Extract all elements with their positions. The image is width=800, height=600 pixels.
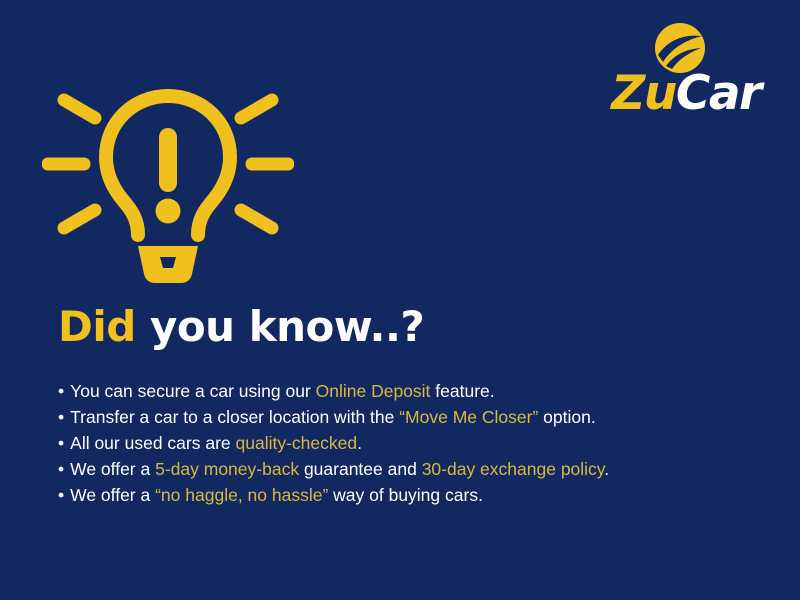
plain-text: We offer a bbox=[70, 485, 155, 505]
list-item: •All our used cars are quality-checked. bbox=[58, 430, 758, 456]
list-item-text: All our used cars are quality-checked. bbox=[70, 430, 362, 456]
lightbulb-exclamation-icon bbox=[42, 72, 294, 288]
list-item: •We offer a “no haggle, no hassle” way o… bbox=[58, 482, 758, 508]
plain-text: . bbox=[357, 433, 362, 453]
page-title: Did you know..? bbox=[58, 304, 424, 350]
promo-slide: ZuCar Did you know..? •You can secure a … bbox=[0, 0, 800, 600]
plain-text: Transfer a car to a closer location with… bbox=[70, 407, 399, 427]
highlight-phrase: 5-day money-back bbox=[155, 459, 299, 479]
list-item: •Transfer a car to a closer location wit… bbox=[58, 404, 758, 430]
plain-text: way of buying cars. bbox=[328, 485, 483, 505]
highlight-phrase: “Move Me Closer” bbox=[399, 407, 538, 427]
plain-text: . bbox=[604, 459, 609, 479]
plain-text: option. bbox=[538, 407, 595, 427]
bullet-marker-icon: • bbox=[58, 456, 64, 482]
logo-word-zu: Zu bbox=[611, 66, 676, 121]
list-item: •You can secure a car using our Online D… bbox=[58, 378, 758, 404]
bullet-marker-icon: • bbox=[58, 482, 64, 508]
list-item-text: We offer a 5-day money-back guarantee an… bbox=[70, 456, 609, 482]
list-item-text: You can secure a car using our Online De… bbox=[70, 378, 495, 404]
bullet-marker-icon: • bbox=[58, 378, 64, 404]
zucar-wordmark: ZuCar bbox=[596, 70, 776, 117]
highlight-phrase: “no haggle, no hassle” bbox=[155, 485, 328, 505]
headline-accent-word: Did bbox=[58, 302, 136, 351]
plain-text: feature. bbox=[430, 381, 494, 401]
logo-word-car: Car bbox=[676, 66, 761, 121]
list-item-text: Transfer a car to a closer location with… bbox=[70, 404, 596, 430]
fact-list: •You can secure a car using our Online D… bbox=[58, 378, 758, 508]
plain-text: guarantee and bbox=[299, 459, 422, 479]
plain-text: We offer a bbox=[70, 459, 155, 479]
bullet-marker-icon: • bbox=[58, 430, 64, 456]
highlight-phrase: quality-checked bbox=[236, 433, 358, 453]
headline-rest: you know..? bbox=[136, 302, 424, 351]
plain-text: All our used cars are bbox=[70, 433, 235, 453]
highlight-phrase: Online Deposit bbox=[316, 381, 431, 401]
zucar-logo[interactable]: ZuCar bbox=[596, 22, 776, 118]
list-item: •We offer a 5-day money-back guarantee a… bbox=[58, 456, 758, 482]
plain-text: You can secure a car using our bbox=[70, 381, 315, 401]
highlight-phrase: 30-day exchange policy bbox=[422, 459, 605, 479]
bullet-marker-icon: • bbox=[58, 404, 64, 430]
list-item-text: We offer a “no haggle, no hassle” way of… bbox=[70, 482, 483, 508]
